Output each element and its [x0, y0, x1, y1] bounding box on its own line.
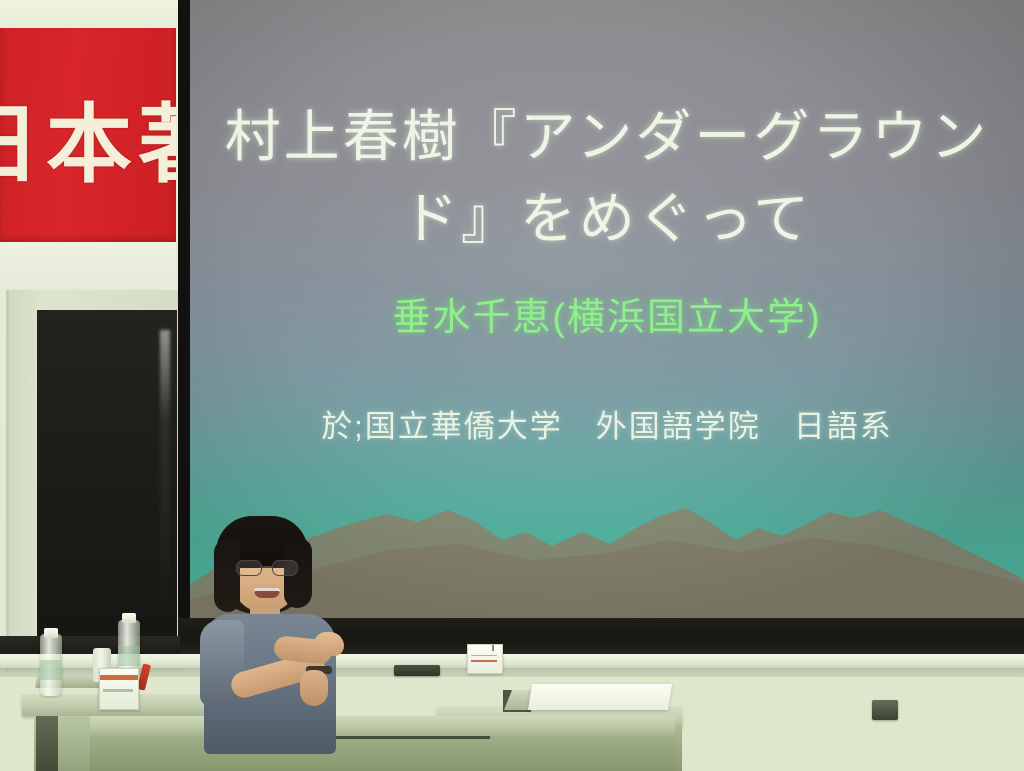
- white-box-front: [99, 668, 139, 710]
- slide-venue-line: 於;国立華僑大学 外国語学院 日語系: [190, 408, 1024, 445]
- chalk-ledge-shadow: [0, 668, 1024, 677]
- presenter: [196, 510, 356, 750]
- presenter-hand-lower: [300, 670, 328, 706]
- bottle-cap-right: [122, 613, 136, 623]
- left-desk-leg: [36, 716, 58, 771]
- lecture-photo-scene: 日本著名 村上春樹『アンダーグラウン ド』をめぐって 垂水千恵(横浜国立大学) …: [0, 0, 1024, 771]
- slide-title-line-2: ド』をめぐって: [190, 178, 1024, 260]
- chalkboard-eraser-right: [872, 700, 898, 720]
- red-banner: 日本著名: [0, 28, 176, 242]
- lectern-top: [90, 716, 675, 736]
- presenter-glasses: [236, 560, 298, 574]
- carton-label-lines: [471, 652, 497, 666]
- wall-strip-above-banner: [0, 0, 186, 30]
- door-panel: [37, 310, 177, 662]
- banner-text: 日本著名: [0, 102, 176, 188]
- white-carton-box: [467, 644, 503, 674]
- chalkboard-band-left: [0, 636, 180, 656]
- slide-subtitle: 垂水千恵(横浜国立大学): [190, 296, 1024, 342]
- slide-title-line-1: 村上春樹『アンダーグラウン: [190, 96, 1024, 178]
- chalk-ledge: [0, 654, 1024, 668]
- box-stripe: [100, 675, 138, 680]
- presenter-hair-left: [214, 540, 240, 612]
- door-light-streak: [160, 330, 170, 630]
- lectern-front: [90, 736, 675, 771]
- presenter-hand-upper: [314, 632, 344, 656]
- chalkboard-eraser: [394, 665, 440, 676]
- paper-sheet: [528, 684, 672, 710]
- bottle-cap-left: [44, 628, 58, 638]
- glasses-bridge: [260, 566, 272, 568]
- glasses-lens-left: [236, 560, 262, 576]
- bottle-label-right: [118, 646, 140, 666]
- presenter-mouth: [254, 588, 280, 598]
- glasses-lens-right: [272, 560, 298, 576]
- bottle-label-left: [40, 660, 62, 680]
- box-stripe-secondary: [103, 689, 133, 692]
- banner-bottom-edge: [0, 242, 176, 292]
- carton-handle: [492, 644, 503, 651]
- slide-title: 村上春樹『アンダーグラウン ド』をめぐって: [190, 96, 1024, 260]
